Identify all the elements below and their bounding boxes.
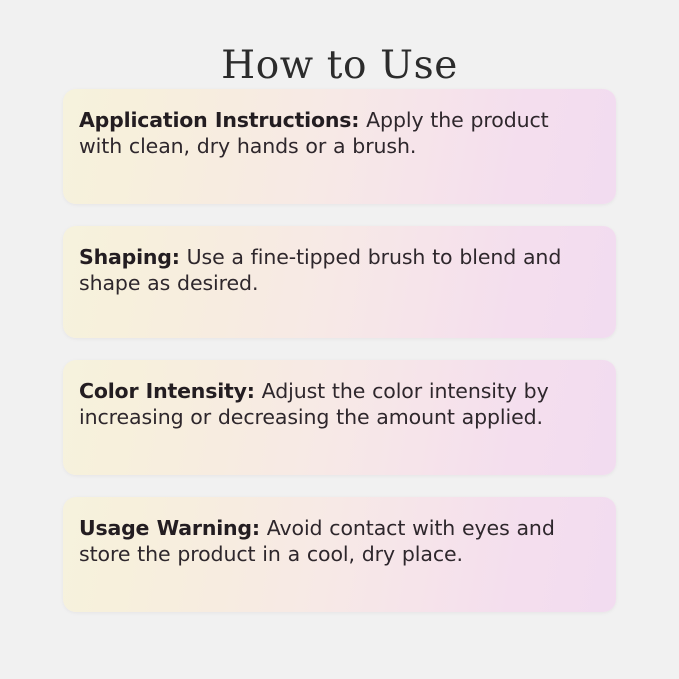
instruction-card-text: Usage Warning: Avoid contact with eyes a… <box>79 516 594 567</box>
instruction-card: Usage Warning: Avoid contact with eyes a… <box>63 497 616 612</box>
instruction-card: Shaping: Use a fine-tipped brush to blen… <box>63 226 616 338</box>
instruction-card-text: Application Instructions: Apply the prod… <box>79 108 594 159</box>
instruction-card-label: Color Intensity: <box>79 379 255 403</box>
instruction-card-text: Shaping: Use a fine-tipped brush to blen… <box>79 245 594 296</box>
instruction-card: Color Intensity: Adjust the color intens… <box>63 360 616 475</box>
instruction-card-text: Color Intensity: Adjust the color intens… <box>79 379 594 430</box>
page-title: How to Use <box>0 44 679 88</box>
instruction-card-label: Application Instructions: <box>79 108 359 132</box>
instruction-card-label: Shaping: <box>79 245 180 269</box>
how-to-use-infographic: How to Use Application Instructions: App… <box>0 0 679 679</box>
instruction-card-list: Application Instructions: Apply the prod… <box>63 89 616 612</box>
instruction-card-label: Usage Warning: <box>79 516 260 540</box>
instruction-card: Application Instructions: Apply the prod… <box>63 89 616 204</box>
